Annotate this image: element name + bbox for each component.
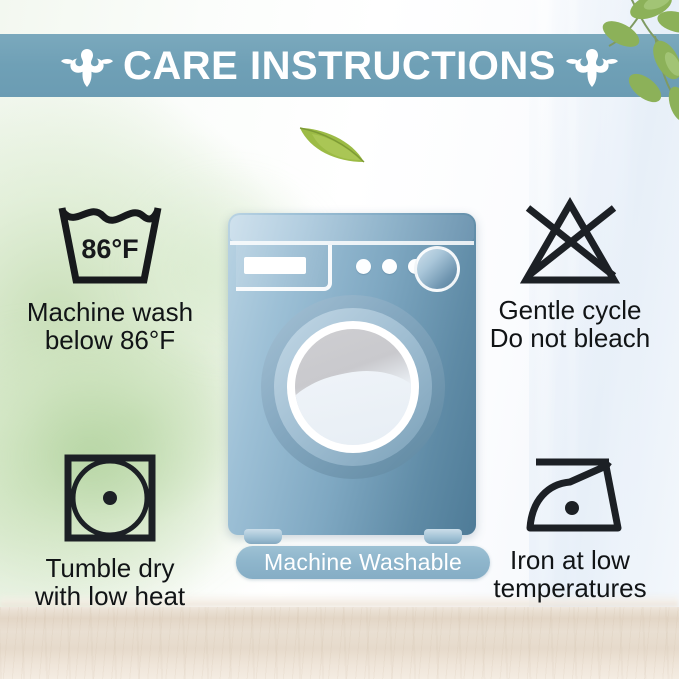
wash-temperature-value: 86°F <box>81 234 138 264</box>
control-buttons <box>356 259 423 274</box>
leaves-icon <box>535 0 679 138</box>
care-symbol-tumble-dry: Tumble dry with low heat <box>10 450 210 610</box>
washer-door-glass <box>295 329 411 445</box>
do-not-bleach-triangle-icon <box>470 196 670 288</box>
wood-grain-texture <box>0 607 679 679</box>
care-symbol-iron-low: Iron at low temperatures <box>470 452 670 602</box>
wash-tub-icon: 86°F <box>10 198 210 290</box>
iron-low-heat-icon <box>470 452 670 538</box>
washer-door <box>261 295 445 479</box>
washing-machine-illustration <box>228 213 476 543</box>
care-instructions-graphic: CARE INSTRUCTIONS <box>0 0 679 679</box>
fleur-de-lis-icon <box>61 43 113 89</box>
program-dial <box>414 246 460 292</box>
leaf-icon <box>296 122 368 166</box>
machine-washable-badge-label: Machine Washable <box>264 551 462 574</box>
care-symbol-caption: Gentle cycle Do not bleach <box>470 296 670 352</box>
care-symbol-caption: Iron at low temperatures <box>470 546 670 602</box>
page-title: CARE INSTRUCTIONS <box>123 46 556 86</box>
control-button <box>356 259 371 274</box>
care-symbol-caption: Machine wash below 86°F <box>10 298 210 354</box>
care-symbol-machine-wash: 86°F Machine wash below 86°F <box>10 198 210 354</box>
control-button <box>382 259 397 274</box>
care-symbol-caption: Tumble dry with low heat <box>10 554 210 610</box>
care-symbol-do-not-bleach: Gentle cycle Do not bleach <box>470 196 670 352</box>
tumble-dry-low-icon <box>10 450 210 546</box>
washer-foot <box>244 529 282 544</box>
washer-top-panel <box>230 215 474 241</box>
machine-washable-badge: Machine Washable <box>236 546 490 579</box>
washer-foot <box>424 529 462 544</box>
washer-body <box>228 213 476 535</box>
detergent-slot <box>244 257 306 274</box>
washer-door-rim <box>287 321 419 453</box>
washer-door-ring <box>274 308 432 466</box>
